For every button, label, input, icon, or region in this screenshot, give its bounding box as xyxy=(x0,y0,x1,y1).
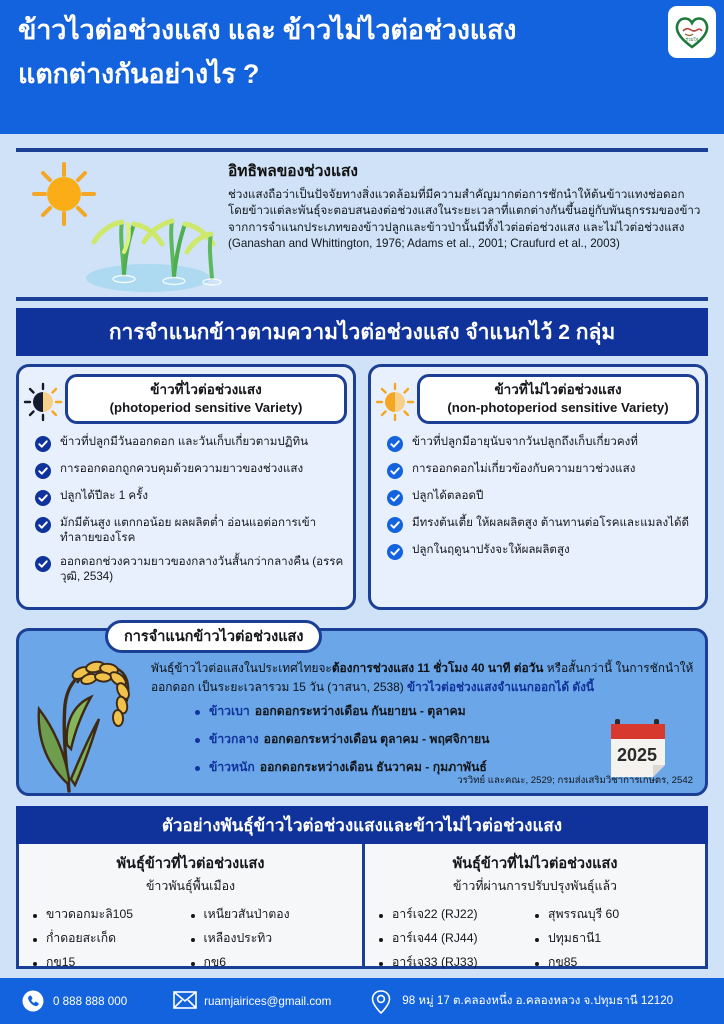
comparison-section: ข้าวที่ไวต่อช่วงแสง (photoperiod sensiti… xyxy=(16,364,708,610)
check-circle-icon xyxy=(387,436,403,452)
sun-and-rice-paddy-illustration xyxy=(16,156,226,296)
varieties-section: ตัวอย่างพันธุ์ข้าวไวต่อช่วงแสงและข้าวไม่… xyxy=(16,806,708,969)
card-title-th: ข้าวที่ไวต่อช่วงแสง xyxy=(150,381,261,399)
list-item: ปทุมธานี1 xyxy=(535,929,691,948)
infographic-page: ข้าวไวต่อช่วงแสง และ ข้าวไม่ไวต่อช่วงแสง… xyxy=(0,0,724,1024)
bullet-dot-icon xyxy=(535,962,539,966)
list-item-text: ข้าวที่ปลูกมีอายุนับจากวันปลูกถึงเก็บเกี… xyxy=(412,435,638,450)
list-item: มักมีต้นสูง แตกกอน้อย ผลผลิตต่ำ อ่อนแอต่… xyxy=(35,516,347,545)
footer-address-text: 98 หมู่ 17 ต.คลองหนึ่ง อ.คลองหลวง จ.ปทุม… xyxy=(402,992,673,1010)
page-title-line1: ข้าวไวต่อช่วงแสง และ ข้าวไม่ไวต่อช่วงแสง xyxy=(18,8,668,52)
variety-name: ขาวดอกมะลิ105 xyxy=(46,905,133,924)
group-value: ออกดอกระหว่างเดือน ตุลาคม - พฤศจิกายน xyxy=(264,730,490,749)
calendar-year-text: 2025 xyxy=(617,745,657,765)
phone-icon xyxy=(22,990,44,1012)
photoperiod-paragraph: พันธุ์ข้าวไวต่อแสงในประเทศไทยจะต้องการช่… xyxy=(151,659,699,696)
bullet-dot-icon xyxy=(195,710,200,715)
footer-phone[interactable]: 0 888 888 000 xyxy=(22,990,127,1012)
influence-text-block: อิทธิพลของช่วงแสง ช่วงแสงถือว่าเป็นปัจจั… xyxy=(228,158,706,253)
variety-name: กข6 xyxy=(204,953,227,972)
list-item: อาร์เจ22 (RJ22) xyxy=(379,905,535,924)
list-item: มีทรงต้นเตี้ย ให้ผลผลิตสูง ต้านทานต่อโรค… xyxy=(387,516,699,533)
envelope-icon xyxy=(173,990,195,1012)
check-circle-icon xyxy=(387,544,403,560)
variety-name: ก่ำดอยสะเก็ด xyxy=(46,929,116,948)
variety-name: กข85 xyxy=(548,953,577,972)
photoperiod-classification-tag: การจำแนกข้าวไวต่อช่วงแสง xyxy=(105,620,322,653)
bullet-dot-icon xyxy=(535,914,539,918)
card-title-th: ข้าวที่ไม่ไวต่อช่วงแสง xyxy=(494,381,621,399)
list-item: กข15 xyxy=(33,953,191,972)
variety-name: อาร์เจ44 (RJ44) xyxy=(392,929,478,948)
page-title-line2: แตกต่างกันอย่างไร ? xyxy=(18,52,668,96)
check-circle-icon xyxy=(35,436,51,452)
photoperiod-classification-tag-text: การจำแนกข้าวไวต่อช่วงแสง xyxy=(124,625,303,648)
varieties-list-group: อาร์เจ22 (RJ22) อาร์เจ44 (RJ44) อาร์เจ33… xyxy=(365,905,705,977)
list-item: การออกดอกไม่เกี่ยวข้องกับความยาวช่วงแสง xyxy=(387,462,699,479)
classification-banner: การจำแนกข้าวตามความไวต่อช่วงแสง จำแนกไว้… xyxy=(16,308,708,356)
photoperiod-reference: วรวิทย์ และคณะ, 2529; กรมส่งเสริมวิชาการ… xyxy=(457,773,693,788)
non-photoperiod-sensitive-bullet-list: ข้าวที่ปลูกมีอายุนับจากวันปลูกถึงเก็บเกี… xyxy=(387,435,699,570)
list-item-text: ออกดอกช่วงความยาวของกลางวันสั้นกว่ากลางค… xyxy=(60,555,347,584)
bullet-dot-icon xyxy=(33,914,37,918)
bullet-dot-icon xyxy=(191,962,195,966)
card-title-en: (photoperiod sensitive Variety) xyxy=(110,399,303,417)
list-item: การออกดอกถูกควบคุมด้วยความยาวของช่วงแสง xyxy=(35,462,347,479)
list-item-text: ปลูกได้ตลอดปี xyxy=(412,489,483,504)
list-item: ก่ำดอยสะเก็ด xyxy=(33,929,191,948)
check-circle-icon xyxy=(35,490,51,506)
varieties-banner-text: ตัวอย่างพันธุ์ข้าวไวต่อช่วงแสงและข้าวไม่… xyxy=(162,812,562,839)
list-item: สุพรรณบุรี 60 xyxy=(535,905,691,924)
check-circle-icon xyxy=(387,517,403,533)
group-label: ข้าวหนัก xyxy=(209,758,255,777)
variety-name: อาร์เจ22 (RJ22) xyxy=(392,905,478,924)
varieties-subheading: ข้าวที่ผ่านการปรับปรุงพันธุ์แล้ว xyxy=(365,877,705,896)
list-item: ปลูกในฤดูนาปรังจะให้ผลผลิตสูง xyxy=(387,543,699,560)
varieties-subheading: ข้าวพันธุ์พื้นเมือง xyxy=(19,877,362,896)
rice-stalk-illustration xyxy=(25,653,151,793)
bullet-dot-icon xyxy=(379,962,383,966)
varieties-heading: พันธุ์ข้าวที่ไม่ไวต่อช่วงแสง xyxy=(365,852,705,875)
paragraph-bold-1: ต้องการช่วงแสง 11 ชั่วโมง 40 นาที ต่อวัน xyxy=(332,661,544,675)
page-footer: 0 888 888 000 ruamjairices@gmail.com 98 … xyxy=(0,978,724,1024)
list-item-text: การออกดอกถูกควบคุมด้วยความยาวของช่วงแสง xyxy=(60,462,303,477)
list-item: ข้าวที่ปลูกมีวันออกดอก และวันเก็บเกี่ยวต… xyxy=(35,435,347,452)
bullet-dot-icon xyxy=(379,938,383,942)
card-title-en: (non-photoperiod sensitive Variety) xyxy=(447,399,668,417)
bullet-dot-icon xyxy=(195,738,200,743)
page-title: ข้าวไวต่อช่วงแสง และ ข้าวไม่ไวต่อช่วงแสง… xyxy=(18,8,668,96)
photoperiod-sensitive-card-header: ข้าวที่ไวต่อช่วงแสง (photoperiod sensiti… xyxy=(65,374,347,424)
influence-paragraph: ช่วงแสงถือว่าเป็นปัจจัยทางสิ่งแวดล้อมที่… xyxy=(228,187,706,253)
list-item: กข85 xyxy=(535,953,691,972)
list-item-text: ข้าวที่ปลูกมีวันออกดอก และวันเก็บเกี่ยวต… xyxy=(60,435,308,450)
varieties-sublist-1: ขาวดอกมะลิ105 ก่ำดอยสะเก็ด กข15 xyxy=(33,905,191,977)
check-circle-icon xyxy=(387,463,403,479)
bullet-dot-icon xyxy=(195,766,200,771)
list-item: เหนียวสันป่าตอง xyxy=(191,905,349,924)
list-item: ปลูกได้ปีละ 1 ครั้ง xyxy=(35,489,347,506)
footer-phone-text: 0 888 888 000 xyxy=(53,995,127,1008)
bullet-dot-icon xyxy=(33,962,37,966)
varieties-table: พันธุ์ข้าวที่ไวต่อช่วงแสง ข้าวพันธุ์พื้น… xyxy=(16,844,708,969)
non-photoperiod-sensitive-card-header: ข้าวที่ไม่ไวต่อช่วงแสง (non-photoperiod … xyxy=(417,374,699,424)
influence-section: อิทธิพลของช่วงแสง ช่วงแสงถือว่าเป็นปัจจั… xyxy=(16,148,708,301)
list-item: อาร์เจ33 (RJ33) xyxy=(379,953,535,972)
photoperiod-classification-section: การจำแนกข้าวไวต่อช่วงแสง xyxy=(16,628,708,796)
heart-handshake-logo: ร่วมใจ xyxy=(668,6,716,58)
varieties-column-sensitive: พันธุ์ข้าวที่ไวต่อช่วงแสง ข้าวพันธุ์พื้น… xyxy=(19,844,362,966)
variety-name: อาร์เจ33 (RJ33) xyxy=(392,953,478,972)
list-item: ปลูกได้ตลอดปี xyxy=(387,489,699,506)
varieties-sublist-2: เหนียวสันป่าตอง เหลืองประทิว กข6 xyxy=(191,905,349,977)
footer-email-text: ruamjairices@gmail.com xyxy=(204,995,331,1008)
varieties-heading: พันธุ์ข้าวที่ไวต่อช่วงแสง xyxy=(19,852,362,875)
paragraph-part-1: พันธุ์ข้าวไวต่อแสงในประเทศไทยจะ xyxy=(151,661,332,675)
list-item: ออกดอกช่วงความยาวของกลางวันสั้นกว่ากลางค… xyxy=(35,555,347,584)
varieties-sublist-1: อาร์เจ22 (RJ22) อาร์เจ44 (RJ44) อาร์เจ33… xyxy=(379,905,535,977)
variety-name: เหนียวสันป่าตอง xyxy=(204,905,290,924)
bullet-dot-icon xyxy=(379,914,383,918)
list-item-text: มักมีต้นสูง แตกกอน้อย ผลผลิตต่ำ อ่อนแอต่… xyxy=(60,516,347,545)
list-item: กข6 xyxy=(191,953,349,972)
footer-email[interactable]: ruamjairices@gmail.com xyxy=(173,990,331,1012)
bullet-dot-icon xyxy=(191,938,195,942)
group-value: ออกดอกระหว่างเดือน กันยายน - ตุลาคม xyxy=(255,702,466,721)
half-sun-dark-icon xyxy=(22,381,64,423)
varieties-column-non-sensitive: พันธุ์ข้าวที่ไม่ไวต่อช่วงแสง ข้าวที่ผ่าน… xyxy=(362,844,705,966)
group-label: ข้าวเบา xyxy=(209,702,250,721)
influence-heading: อิทธิพลของช่วงแสง xyxy=(228,158,706,183)
list-item-text: ปลูกในฤดูนาปรังจะให้ผลผลิตสูง xyxy=(412,543,570,558)
bullet-dot-icon xyxy=(33,938,37,942)
group-value: ออกดอกระหว่างเดือน ธันวาคม - กุมภาพันธ์ xyxy=(260,758,487,777)
page-header: ข้าวไวต่อช่วงแสง และ ข้าวไม่ไวต่อช่วงแสง… xyxy=(0,0,724,134)
check-circle-icon xyxy=(35,556,51,572)
paragraph-bold-2: ข้าวไวต่อช่วงแสงจำแนกออกได้ ดังนี้ xyxy=(407,680,594,694)
non-photoperiod-sensitive-card: ข้าวที่ไม่ไวต่อช่วงแสง (non-photoperiod … xyxy=(368,364,708,610)
bullet-dot-icon xyxy=(535,938,539,942)
list-item: ข้าวที่ปลูกมีอายุนับจากวันปลูกถึงเก็บเกี… xyxy=(387,435,699,452)
check-circle-icon xyxy=(387,490,403,506)
variety-name: สุพรรณบุรี 60 xyxy=(548,905,619,924)
svg-text:ร่วมใจ: ร่วมใจ xyxy=(685,37,698,42)
location-pin-icon xyxy=(371,990,393,1012)
variety-name: เหลืองประทิว xyxy=(204,929,273,948)
variety-name: ปทุมธานี1 xyxy=(548,929,601,948)
list-item-text: การออกดอกไม่เกี่ยวข้องกับความยาวช่วงแสง xyxy=(412,462,635,477)
list-item: อาร์เจ44 (RJ44) xyxy=(379,929,535,948)
footer-address[interactable]: 98 หมู่ 17 ต.คลองหนึ่ง อ.คลองหลวง จ.ปทุม… xyxy=(371,990,673,1012)
list-item-text: ปลูกได้ปีละ 1 ครั้ง xyxy=(60,489,148,504)
varieties-list-group: ขาวดอกมะลิ105 ก่ำดอยสะเก็ด กข15 เหนียวสั… xyxy=(19,905,362,977)
varieties-sublist-2: สุพรรณบุรี 60 ปทุมธานี1 กข85 xyxy=(535,905,691,977)
check-circle-icon xyxy=(35,463,51,479)
list-item: ขาวดอกมะลิ105 xyxy=(33,905,191,924)
list-item: เหลืองประทิว xyxy=(191,929,349,948)
list-item-text: มีทรงต้นเตี้ย ให้ผลผลิตสูง ต้านทานต่อโรค… xyxy=(412,516,689,531)
photoperiod-sensitive-card: ข้าวที่ไวต่อช่วงแสง (photoperiod sensiti… xyxy=(16,364,356,610)
classification-banner-text: การจำแนกข้าวตามความไวต่อช่วงแสง จำแนกไว้… xyxy=(109,316,615,349)
full-sun-icon xyxy=(374,381,416,423)
bullet-dot-icon xyxy=(191,914,195,918)
check-circle-icon xyxy=(35,517,51,533)
photoperiod-sensitive-bullet-list: ข้าวที่ปลูกมีวันออกดอก และวันเก็บเกี่ยวต… xyxy=(35,435,347,594)
varieties-banner: ตัวอย่างพันธุ์ข้าวไวต่อช่วงแสงและข้าวไม่… xyxy=(16,806,708,844)
variety-name: กข15 xyxy=(46,953,75,972)
group-label: ข้าวกลาง xyxy=(209,730,259,749)
